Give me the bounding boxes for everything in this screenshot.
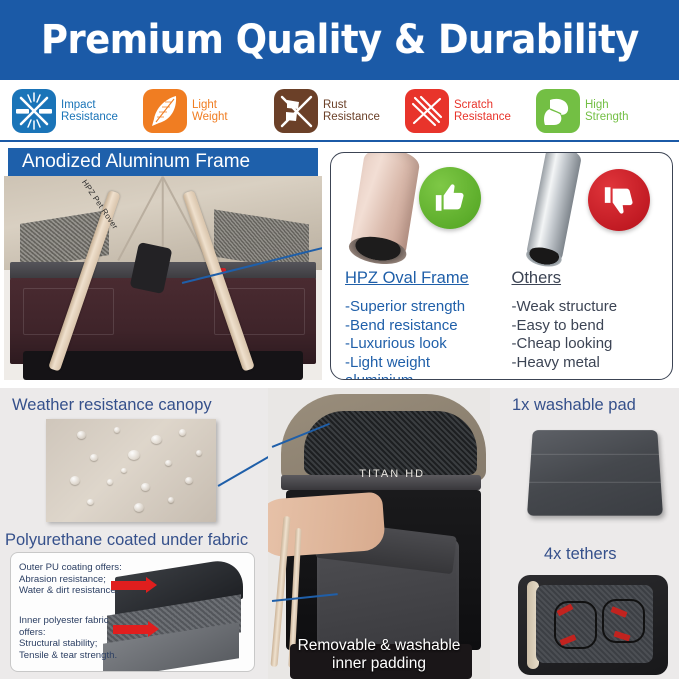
pu-outer-text: Outer PU coating offers: Abrasion resist… <box>19 562 122 597</box>
feature-label: Rust Resistance <box>323 99 380 124</box>
round-metal-tube <box>525 152 582 265</box>
comparison-bullet: -Bend resistance <box>345 317 502 336</box>
thumbs-up-icon <box>419 167 481 229</box>
feature-label: Impact Resistance <box>61 99 118 124</box>
feather-icon <box>143 89 187 133</box>
pu-inner-text: Inner polyester fabric offers: Structura… <box>19 615 117 661</box>
feature-high-strength: High Strength <box>536 89 667 133</box>
impact-burst-icon <box>12 89 56 133</box>
flexed-arm-icon <box>536 89 580 133</box>
header-divider <box>0 140 679 142</box>
washable-pad-title: 1x washable pad <box>512 396 636 415</box>
cabin-base <box>23 351 303 380</box>
header-banner: Premium Quality & Durability <box>0 0 679 80</box>
anodized-frame-banner-label: Anodized Aluminum Frame <box>22 151 250 173</box>
weather-canopy-title: Weather resistance canopy <box>12 396 212 415</box>
washable-pad <box>527 430 663 516</box>
feature-light-weight: Light Weight <box>143 89 274 133</box>
pu-fabric-title: Polyurethane coated under fabric <box>5 531 248 550</box>
comparison-bullet: -Heavy metal <box>512 354 673 373</box>
pu-fabric-detail-box: Outer PU coating offers: Abrasion resist… <box>10 552 255 672</box>
tethers-title: 4x tethers <box>544 545 616 564</box>
anodized-frame-banner: Anodized Aluminum Frame <box>8 148 318 176</box>
comparison-bullet: -Light weight aluminium <box>345 354 502 381</box>
feature-label: High Strength <box>585 99 628 124</box>
tethers-photo <box>518 575 668 675</box>
comparison-column-hpz: HPZ Oval Frame -Superior strength -Bend … <box>331 153 502 379</box>
feature-label: Scratch Resistance <box>454 99 511 124</box>
canopy-mesh-window <box>304 411 477 475</box>
comparison-bullet: -Weak structure <box>512 298 673 317</box>
weather-canopy-photo <box>46 419 216 522</box>
aluminum-frame-photo: HPZ Pet Rover <box>4 176 322 380</box>
infographic-page: Premium Quality & Durability <box>0 0 679 679</box>
feature-rust-resistance: Rust Resistance <box>274 89 405 133</box>
comparison-heading-others: Others <box>512 269 673 288</box>
comparison-bullet: -Easy to bend <box>512 317 673 336</box>
comparison-bullet: -Luxurious look <box>345 335 502 354</box>
hpz-tube-illustration <box>345 159 502 267</box>
frame-comparison-panel: HPZ Oval Frame -Superior strength -Bend … <box>330 152 673 380</box>
oval-aluminum-tube <box>349 152 422 263</box>
page-title: Premium Quality & Durability <box>41 17 639 63</box>
product-badge-text: TITAN HD <box>359 468 425 480</box>
feature-icon-strip: Impact Resistance Light Weight <box>0 80 679 142</box>
comparison-column-others: Others -Weak structure -Easy to bend -Ch… <box>502 153 673 379</box>
thumbs-down-icon <box>588 169 650 231</box>
red-arrow-icon <box>111 581 147 590</box>
comparison-heading-hpz: HPZ Oval Frame <box>345 269 502 288</box>
washable-pad-photo <box>530 427 660 515</box>
comparison-bullet: -Superior strength <box>345 298 502 317</box>
feature-scratch-resistance: Scratch Resistance <box>405 89 536 133</box>
stroller-padding-photo: TITAN HD Removable & washable inner padd… <box>268 388 490 679</box>
others-tube-illustration <box>512 159 673 267</box>
comparison-bullet: -Cheap looking <box>512 335 673 354</box>
no-rust-icon <box>274 89 318 133</box>
center-photo-caption: Removable & washable inner padding <box>268 637 490 673</box>
no-scratch-icon <box>405 89 449 133</box>
feature-impact-resistance: Impact Resistance <box>12 89 143 133</box>
red-arrow-icon <box>113 625 149 634</box>
feature-label: Light Weight <box>192 99 228 124</box>
